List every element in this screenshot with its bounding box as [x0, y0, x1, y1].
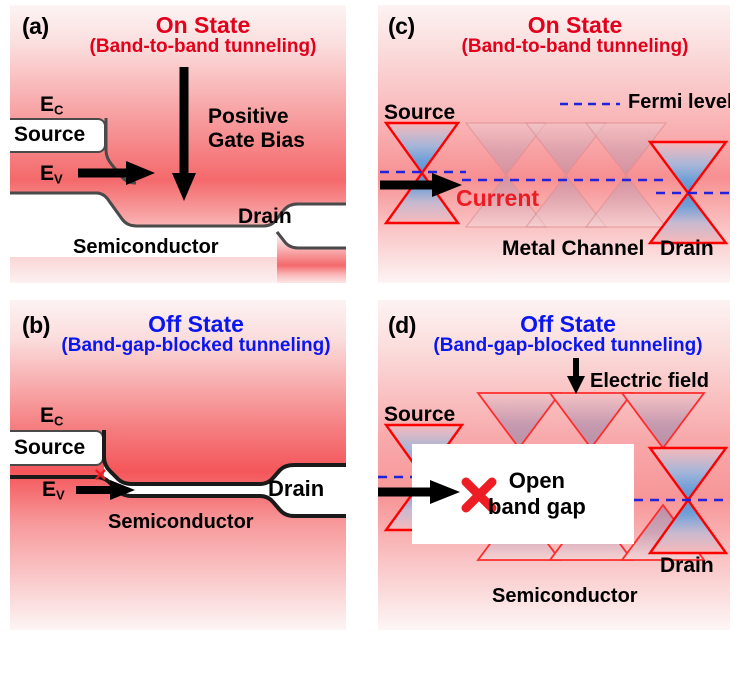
channel-cone-3 — [586, 123, 666, 227]
open-band-gap-line1: Open — [488, 468, 586, 494]
electric-field-arrow-d — [567, 358, 585, 394]
label-source-c: Source — [384, 101, 455, 125]
gate-bias-arrow-a — [172, 67, 196, 201]
blocked-marker-b: × — [94, 462, 107, 488]
label-source-d: Source — [384, 403, 455, 427]
label-electric-field-d: Electric field — [590, 370, 709, 393]
upper-triangle-1 — [478, 393, 560, 448]
label-open-band-gap-d: Open band gap — [488, 468, 586, 521]
upper-triangle-2 — [550, 393, 632, 448]
label-drain-c: Drain — [660, 237, 714, 261]
label-drain-d: Drain — [660, 554, 714, 578]
arrows-b — [10, 300, 346, 630]
panel-d: (d) Off State (Band-gap-blocked tunnelin… — [378, 300, 730, 630]
upper-triangle-3 — [622, 393, 704, 448]
label-fermi-level-c: Fermi level — [628, 91, 730, 114]
figure-root: (a) On State (Band-to-band tunneling) EC… — [0, 0, 739, 684]
open-band-gap-line2: band gap — [488, 494, 586, 520]
label-current-c: Current — [456, 185, 539, 212]
panel-b: (b) Off State (Band-gap-blocked tunnelin… — [10, 300, 346, 630]
cones-and-triangles-d — [378, 300, 730, 630]
label-semiconductor-d: Semiconductor — [492, 585, 638, 608]
label-metal-channel-c: Metal Channel — [502, 237, 644, 261]
tunneling-arrow-a — [78, 161, 155, 185]
arrows-a — [10, 5, 346, 283]
panel-c: (c) On State (Band-to-band tunneling) — [378, 5, 730, 283]
panel-a: (a) On State (Band-to-band tunneling) EC… — [10, 5, 346, 283]
